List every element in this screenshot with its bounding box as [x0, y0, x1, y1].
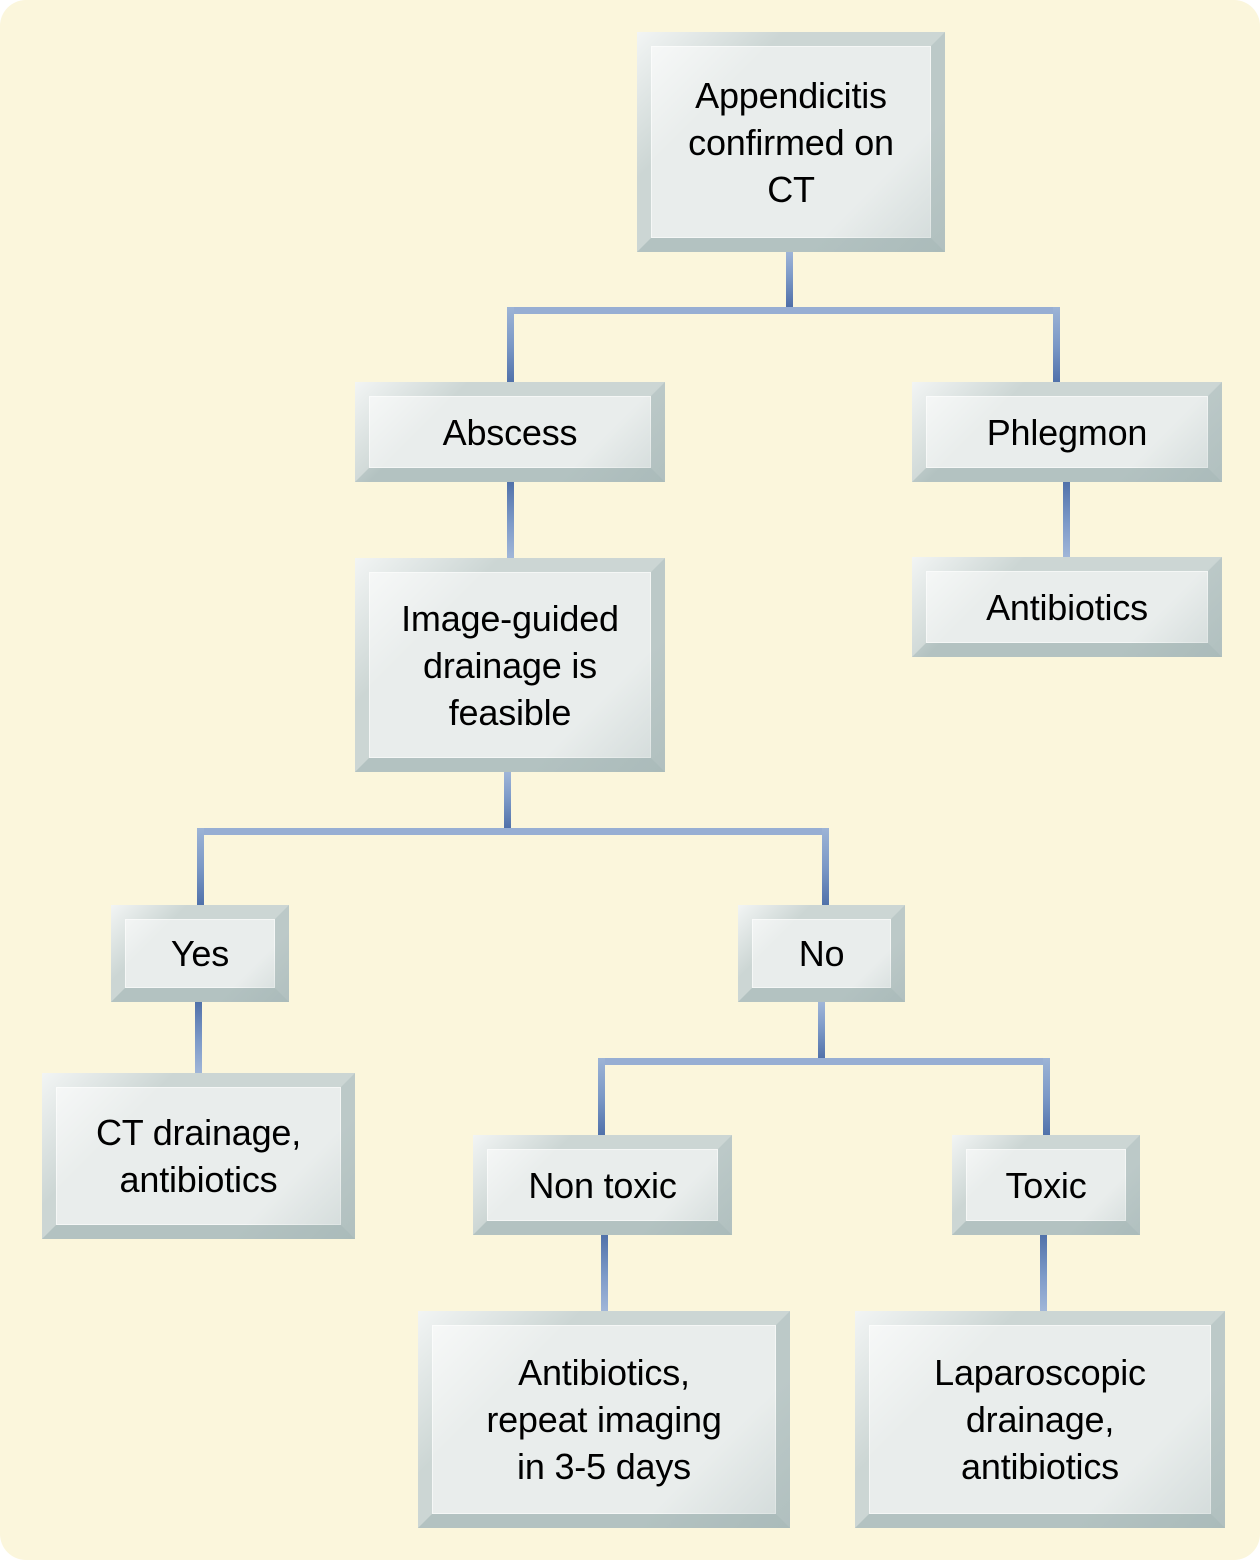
node-abscess-label: Abscess — [369, 409, 651, 456]
node-ct-drainage-antibiotics-label: CT drainage, antibiotics — [56, 1109, 341, 1203]
node-no[interactable]: No — [738, 905, 905, 1002]
node-yes-label: Yes — [125, 930, 275, 977]
node-appendicitis-confirmed[interactable]: Appendicitis confirmed on CT — [637, 32, 945, 252]
connector-phlegmon-to-antibiotics — [1063, 480, 1070, 560]
connector-root-stem — [786, 249, 793, 307]
node-toxic-label: Toxic — [966, 1162, 1126, 1209]
connector-no-bar — [598, 1058, 1050, 1065]
connector-drainage-stem — [504, 770, 511, 830]
connector-no-stem — [818, 1000, 825, 1060]
connector-root-bar — [507, 307, 1060, 314]
node-image-guided-drainage-feasible[interactable]: Image-guided drainage is feasible — [355, 558, 665, 772]
connector-drainage-to-yes — [197, 828, 204, 908]
node-ct-drainage-antibiotics[interactable]: CT drainage, antibiotics — [42, 1073, 355, 1239]
node-antibiotics-repeat-imaging[interactable]: Antibiotics, repeat imaging in 3-5 days — [418, 1311, 790, 1528]
node-image-guided-drainage-feasible-label: Image-guided drainage is feasible — [369, 595, 651, 736]
node-laparoscopic-drainage-antibiotics-label: Laparoscopic drainage, antibiotics — [869, 1349, 1211, 1490]
node-non-toxic[interactable]: Non toxic — [473, 1135, 732, 1235]
node-antibiotics-repeat-imaging-label: Antibiotics, repeat imaging in 3-5 days — [432, 1349, 776, 1490]
flowchart-canvas: Appendicitis confirmed on CT Abscess Phl… — [0, 0, 1260, 1560]
node-phlegmon[interactable]: Phlegmon — [912, 382, 1222, 482]
connector-non-toxic-to-antibiotics-repeat — [601, 1233, 608, 1313]
connector-no-to-toxic — [1043, 1058, 1050, 1138]
node-abscess[interactable]: Abscess — [355, 382, 665, 482]
connector-root-to-abscess — [507, 307, 514, 385]
node-toxic[interactable]: Toxic — [952, 1135, 1140, 1235]
node-phlegmon-antibiotics-label: Antibiotics — [926, 584, 1208, 631]
node-non-toxic-label: Non toxic — [487, 1162, 718, 1209]
node-laparoscopic-drainage-antibiotics[interactable]: Laparoscopic drainage, antibiotics — [855, 1311, 1225, 1528]
connector-root-to-phlegmon — [1053, 307, 1060, 385]
node-phlegmon-label: Phlegmon — [926, 409, 1208, 456]
node-phlegmon-antibiotics[interactable]: Antibiotics — [912, 557, 1222, 657]
node-no-label: No — [752, 930, 891, 977]
connector-no-to-non-toxic — [598, 1058, 605, 1138]
connector-drainage-bar — [197, 828, 829, 835]
connector-toxic-to-laparoscopic — [1040, 1233, 1047, 1313]
node-appendicitis-confirmed-label: Appendicitis confirmed on CT — [651, 72, 931, 213]
connector-abscess-to-drainage — [507, 480, 514, 560]
connector-yes-to-ct-drainage — [195, 1000, 202, 1076]
connector-drainage-to-no — [822, 828, 829, 908]
node-yes[interactable]: Yes — [111, 905, 289, 1002]
